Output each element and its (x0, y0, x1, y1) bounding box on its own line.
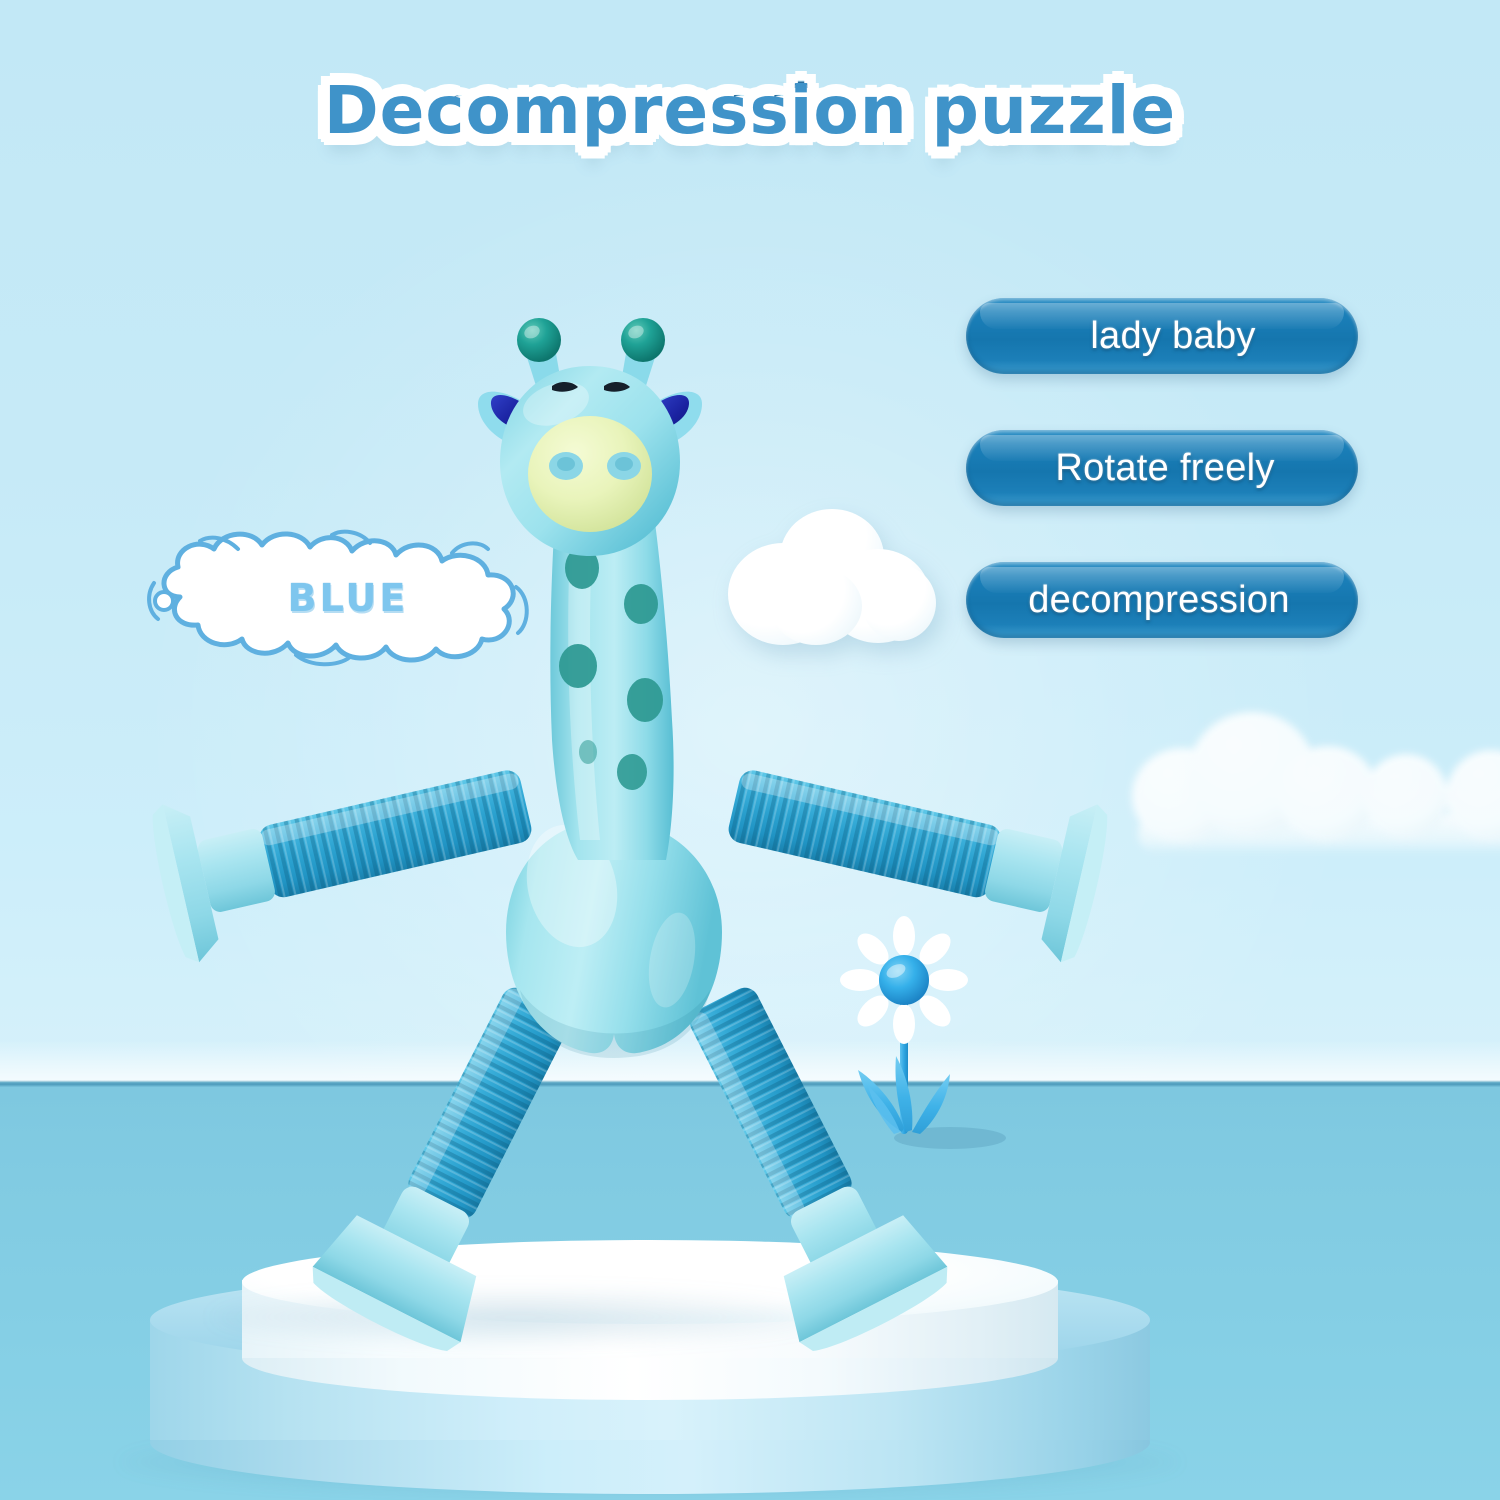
flower-center (879, 955, 929, 1005)
page-title-text: Decompression puzzle (324, 72, 1176, 149)
feature-badge-lady-baby[interactable]: lady baby (966, 298, 1358, 374)
cloud-puff-icon (862, 565, 936, 641)
toy-head (478, 318, 702, 556)
feature-badge-label: Rotate freely (1049, 447, 1274, 490)
toy-torso (506, 815, 722, 1058)
cloud-puff-icon (770, 567, 862, 645)
toy-muzzle (528, 416, 652, 532)
toy-eyes (552, 382, 630, 392)
toy-neck-spots (559, 547, 663, 790)
feature-badge-label: decompression (1028, 579, 1296, 622)
toy-neck (550, 500, 673, 860)
feature-badge-label: lady baby (1068, 315, 1255, 358)
horizon-haze (0, 1040, 1500, 1082)
toy-ears (478, 392, 702, 448)
feature-badge-list: lady baby Rotate freely decompression (966, 298, 1358, 694)
flower-decoration (842, 932, 1022, 1162)
toy-nostrils (549, 452, 641, 480)
product-marketing-image: Decompression puzzle (0, 0, 1500, 1500)
horizon-line (0, 1080, 1500, 1087)
color-variant-label: BLUE (146, 527, 544, 669)
toy-arm-right (716, 725, 1115, 967)
cloud-puff-icon (1364, 754, 1448, 840)
color-variant-text: BLUE (146, 527, 544, 669)
feature-badge-rotate-freely[interactable]: Rotate freely (966, 430, 1358, 506)
cloud-decoration (722, 505, 942, 645)
page-title: Decompression puzzle (0, 72, 1500, 149)
cloud-puff-icon (1278, 746, 1378, 842)
feature-badge-decompression[interactable]: decompression (966, 562, 1358, 638)
toy-arm-left (145, 725, 544, 967)
toy-horns (517, 318, 665, 392)
podium-contact-shadow (210, 1290, 830, 1344)
cloud-bank-decoration (1128, 706, 1500, 886)
